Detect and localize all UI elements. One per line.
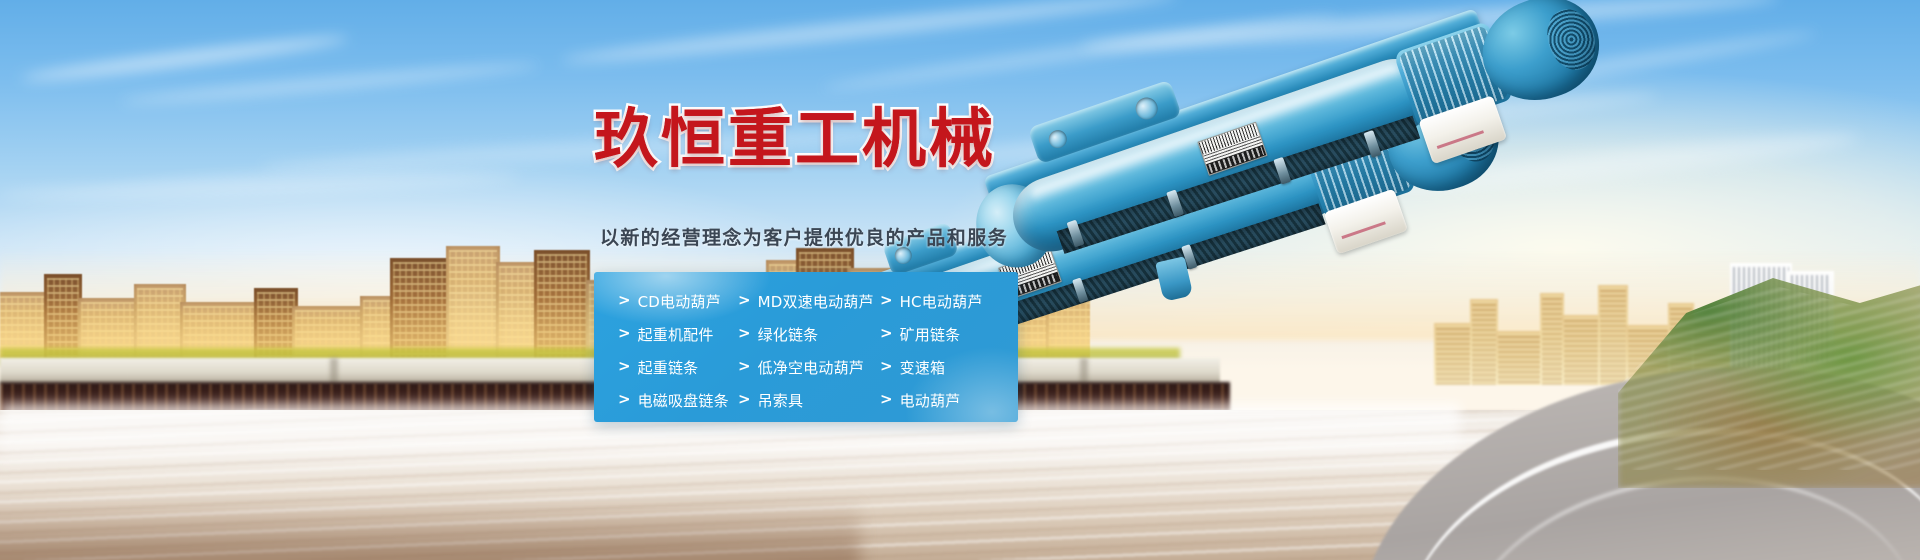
chevron-right-icon: > [618,326,631,341]
product-link[interactable]: > 低净空电动葫芦 [738,357,880,378]
product-link[interactable]: > 电磁吸盘链条 [618,390,738,411]
product-link[interactable]: > 起重链条 [618,357,738,378]
product-link[interactable]: > 起重机配件 [618,324,738,345]
product-link-label: 电磁吸盘链条 [638,390,729,411]
product-link-label: CD电动葫芦 [638,291,721,312]
product-links-grid: > CD电动葫芦 > MD双速电动葫芦 > HC电动葫芦 > 起重机配件 > [594,272,1018,422]
page-subtitle: 以新的经营理念为客户提供优良的产品和服务 [600,223,1008,250]
page-title: 玖恒重工机械 [594,108,996,172]
product-link[interactable]: > 吊索具 [738,390,880,411]
product-links-panel: > CD电动葫芦 > MD双速电动葫芦 > HC电动葫芦 > 起重机配件 > [594,272,1018,422]
chevron-right-icon: > [880,359,893,374]
banner-copy: 玖恒重工机械 玖恒重工机械 以新的经营理念为客户提供优良的产品和服务 > CD电… [0,0,1920,560]
chevron-right-icon: > [618,293,631,308]
product-link-label: 电动葫芦 [900,390,961,411]
product-link-label: MD双速电动葫芦 [758,291,874,312]
product-link-label: 低净空电动葫芦 [758,357,864,378]
chevron-right-icon: > [738,392,751,407]
product-link[interactable]: > 绿化链条 [738,324,880,345]
product-link[interactable]: > 变速箱 [880,357,1018,378]
chevron-right-icon: > [738,326,751,341]
chevron-right-icon: > [618,359,631,374]
product-link-label: 绿化链条 [758,324,819,345]
product-link[interactable]: > HC电动葫芦 [880,291,1018,312]
product-link[interactable]: > MD双速电动葫芦 [738,291,880,312]
product-link[interactable]: > CD电动葫芦 [618,291,738,312]
product-link[interactable]: > 电动葫芦 [880,390,1018,411]
product-link-label: 起重机配件 [638,324,714,345]
hero-banner: 玖恒重工机械 玖恒重工机械 以新的经营理念为客户提供优良的产品和服务 > CD电… [0,0,1920,560]
product-link[interactable]: > 矿用链条 [880,324,1018,345]
product-link-label: 矿用链条 [900,324,961,345]
product-link-label: 变速箱 [900,357,946,378]
product-link-label: 吊索具 [758,390,804,411]
product-link-label: HC电动葫芦 [900,291,983,312]
chevron-right-icon: > [738,359,751,374]
chevron-right-icon: > [738,293,751,308]
product-link-label: 起重链条 [638,357,699,378]
chevron-right-icon: > [880,392,893,407]
chevron-right-icon: > [880,293,893,308]
chevron-right-icon: > [880,326,893,341]
chevron-right-icon: > [618,392,631,407]
